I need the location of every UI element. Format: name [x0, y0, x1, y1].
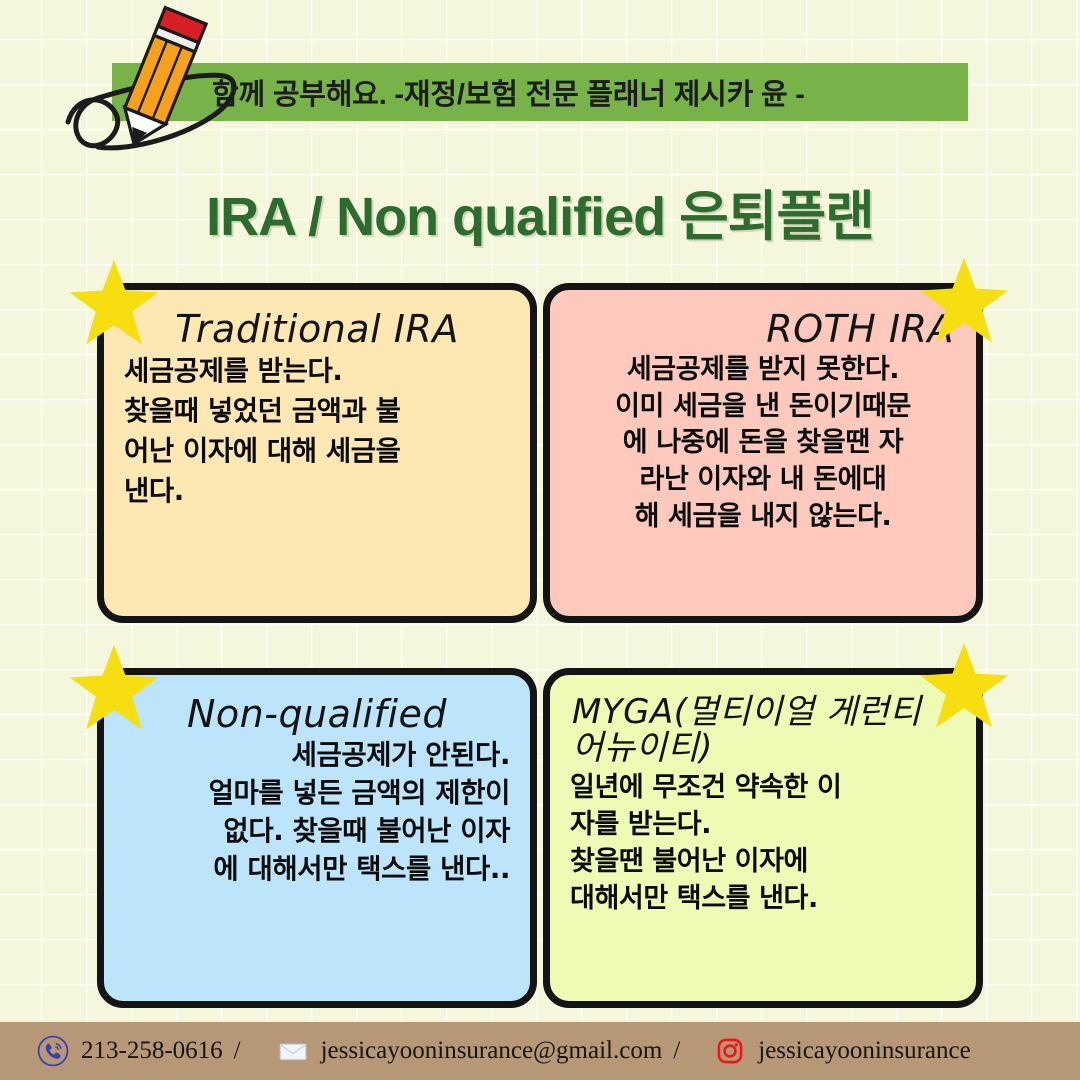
card-non-qualified: Non-qualified 세금공제가 안된다. 얼마를 넣든 금액의 제한이 … — [97, 668, 537, 1008]
card-line: 어난 이자에 대해 세금을 — [124, 432, 510, 472]
phone-icon — [36, 1034, 70, 1068]
page-title: IRA / Non qualified 은퇴플랜 — [0, 172, 1080, 251]
card-title: ROTH IRA — [572, 310, 954, 350]
instagram-icon — [713, 1034, 747, 1068]
card-body: 일년에 무조건 약속한 이 자를 받는다. 찾을땐 불어난 이자에 대해서만 택… — [570, 770, 956, 917]
card-grid: Traditional IRA 세금공제를 받는다. 찾을때 넣었던 금액과 불… — [97, 283, 983, 1010]
card-line: 에 나중에 돈을 찾을땐 자 — [570, 425, 956, 462]
phone-number: 213-258-0616 — [81, 1037, 223, 1065]
instagram-contact[interactable]: jessicayooninsurance — [713, 1034, 970, 1068]
card-line: 이미 세금을 낸 돈이기때문 — [570, 389, 956, 426]
card-line: 얼마를 넣든 금액의 제한이 — [124, 775, 510, 813]
email-contact[interactable]: jessicayooninsurance@gmail.com — [276, 1034, 663, 1068]
card-line: 낸다. — [124, 472, 510, 512]
card-line: 해 세금을 내지 않는다. — [570, 499, 956, 536]
card-roth-ira: ROTH IRA 세금공제를 받지 못한다. 이미 세금을 낸 돈이기때문 에 … — [543, 283, 983, 623]
card-line: 찾을땐 불어난 이자에 — [570, 844, 956, 881]
card-line: 에 대해서만 택스를 낸다.. — [124, 851, 510, 889]
contact-footer: 213-258-0616 / jessicayooninsurance@gmai… — [0, 1022, 1080, 1080]
card-line: 자를 받는다. — [570, 807, 956, 844]
phone-contact[interactable]: 213-258-0616 — [36, 1034, 223, 1068]
envelope-icon — [276, 1034, 310, 1068]
card-body: 세금공제가 안된다. 얼마를 넣든 금액의 제한이 없다. 찾을때 불어난 이자… — [124, 737, 510, 889]
card-line: 없다. 찾을때 불어난 이자 — [124, 813, 510, 851]
header-banner-text: 함께 공부해요. -재정/보험 전문 플래너 제시카 윤 - — [212, 71, 805, 113]
card-traditional-ira: Traditional IRA 세금공제를 받는다. 찾을때 넣었던 금액과 불… — [97, 283, 537, 623]
email-address: jessicayooninsurance@gmail.com — [321, 1037, 663, 1065]
card-line: 라난 이자와 내 돈에대 — [570, 462, 956, 499]
card-line: 세금공제를 받는다. — [124, 352, 510, 392]
pencil-icon — [58, 2, 268, 167]
card-title: MYGA(멀티이얼 게런티 어뉴이티) — [572, 695, 954, 766]
instagram-handle: jessicayooninsurance — [758, 1037, 970, 1065]
card-line: 찾을때 넣었던 금액과 불 — [124, 392, 510, 432]
card-myga: MYGA(멀티이얼 게런티 어뉴이티) 일년에 무조건 약속한 이 자를 받는다… — [543, 668, 983, 1008]
separator: / — [673, 1037, 680, 1065]
card-title: Traditional IRA — [126, 310, 508, 350]
card-title: Non-qualified — [126, 695, 508, 735]
card-body: 세금공제를 받지 못한다. 이미 세금을 낸 돈이기때문 에 나중에 돈을 찾을… — [570, 352, 956, 536]
card-body: 세금공제를 받는다. 찾을때 넣었던 금액과 불 어난 이자에 대해 세금을 낸… — [124, 352, 510, 512]
card-line: 대해서만 택스를 낸다. — [570, 881, 956, 918]
separator: / — [234, 1037, 241, 1065]
card-line: 일년에 무조건 약속한 이 — [570, 770, 956, 807]
card-line: 세금공제가 안된다. — [124, 737, 510, 775]
card-line: 세금공제를 받지 못한다. — [570, 352, 956, 389]
